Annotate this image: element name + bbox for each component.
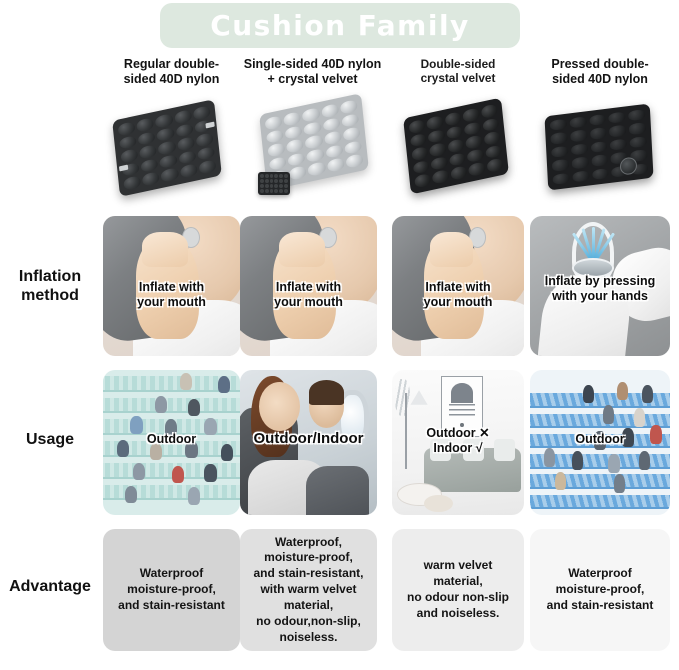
- advantage-cell-1: Waterproof moisture-proof, and stain-res…: [103, 529, 240, 651]
- cushion-tag: [205, 122, 214, 129]
- row-label-usage: Usage: [0, 431, 100, 450]
- row-label-inflation-method: Inflation method: [0, 268, 100, 306]
- product-image-3: [392, 96, 524, 208]
- advantage-text-3: warm velvet material, no odour non-slip …: [398, 558, 518, 621]
- usage-caption-2: Outdoor/Indoor: [240, 430, 377, 448]
- usage-caption-3: Outdoor ✕ Indoor √: [392, 426, 524, 456]
- cushion-black-velvet: [403, 98, 509, 195]
- product-image-2: [240, 96, 385, 208]
- usage-cell-1: Outdoor: [103, 370, 240, 515]
- column-header-2: Single-sided 40D nylon + crystal velvet: [240, 57, 385, 88]
- inflation-caption-4: Inflate by pressing with your hands: [530, 274, 670, 304]
- product-image-4: [530, 96, 670, 208]
- advantage-text-4: Waterproof moisture-proof, and stain-res…: [547, 566, 654, 613]
- usage-caption-4: Outdoor: [530, 432, 670, 447]
- cushion-pressed-nylon: [544, 104, 653, 191]
- cushion-comparison-infographic: Cushion Family Regular double- sided 40D…: [0, 0, 679, 670]
- column-header-3: Double-sided crystal velvet: [392, 57, 524, 86]
- advantage-text-1: Waterproof moisture-proof, and stain-res…: [118, 566, 225, 613]
- row-label-advantage: Advantage: [0, 578, 100, 597]
- product-image-1: [103, 96, 240, 208]
- usage-cell-4: Outdoor: [530, 370, 670, 515]
- inflation-caption-1: Inflate with your mouth: [103, 280, 240, 310]
- inflation-cell-3: Inflate with your mouth: [392, 216, 524, 356]
- usage-cell-3: Outdoor ✕ Indoor √: [392, 370, 524, 515]
- advantage-text-2: Waterproof, moisture-proof, and stain-re…: [253, 535, 363, 646]
- inflation-cell-1: Inflate with your mouth: [103, 216, 240, 356]
- page-title: Cushion Family: [210, 9, 470, 42]
- inflation-cell-2: Inflate with your mouth: [240, 216, 377, 356]
- usage-cell-2: Outdoor/Indoor: [240, 370, 377, 515]
- inflation-caption-3: Inflate with your mouth: [392, 280, 524, 310]
- title-banner: Cushion Family: [160, 3, 520, 48]
- advantage-cell-3: warm velvet material, no odour non-slip …: [392, 529, 524, 651]
- advantage-cell-2: Waterproof, moisture-proof, and stain-re…: [240, 529, 377, 651]
- inflation-caption-2: Inflate with your mouth: [240, 280, 377, 310]
- cushion-nylon-side-inset: [258, 172, 290, 195]
- advantage-cell-4: Waterproof moisture-proof, and stain-res…: [530, 529, 670, 651]
- cushion-dark-nylon: [112, 99, 222, 197]
- inflation-cell-4: Inflate by pressing with your hands: [530, 216, 670, 356]
- column-header-1: Regular double- sided 40D nylon: [103, 57, 240, 88]
- column-header-4: Pressed double- sided 40D nylon: [530, 57, 670, 88]
- usage-caption-1: Outdoor: [103, 432, 240, 447]
